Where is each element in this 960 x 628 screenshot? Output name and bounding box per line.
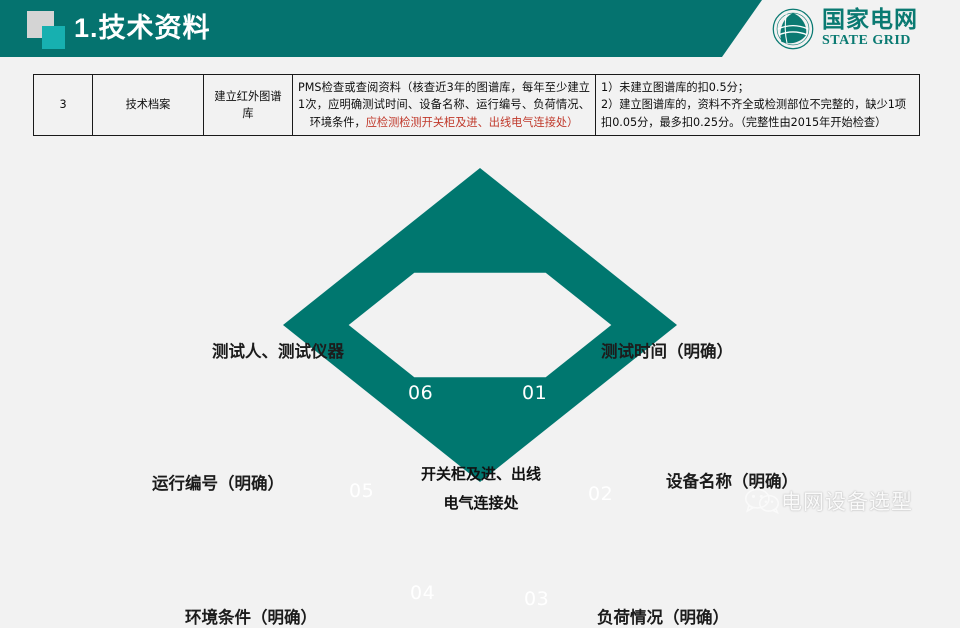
wechat-icon bbox=[745, 488, 779, 514]
star-number-05: 05 bbox=[349, 480, 374, 502]
star-center-text: 开关柜及进、出线 电气连接处 bbox=[395, 460, 567, 519]
cell-scoring: 1）未建立图谱库的扣0.5分； 2）建立图谱库的，资料不齐全或检测部位不完整的，… bbox=[596, 75, 920, 136]
hexagram-diagram: 01 02 03 04 05 06 开关柜及进、出线 电气连接处 测试人、测试仪… bbox=[0, 160, 960, 490]
star-label-05: 运行编号（明确） bbox=[152, 470, 284, 494]
page-title: 1.技术资料 bbox=[74, 8, 211, 48]
star-label-03: 负荷情况（明确） bbox=[597, 604, 729, 628]
logo-english-name: STATE GRID bbox=[822, 34, 918, 48]
description-red-text: 应检测检测开关柜及进、出线电气连接处） bbox=[366, 116, 579, 129]
state-grid-logo-text: 国家电网 STATE GRID bbox=[822, 9, 918, 48]
star-label-01: 测试时间（明确） bbox=[601, 338, 733, 362]
state-grid-logo: 国家电网 STATE GRID bbox=[762, 0, 960, 57]
hexagram-star-shape bbox=[283, 168, 677, 482]
watermark-text: 电网设备选型 bbox=[781, 486, 913, 516]
wechat-watermark: 电网设备选型 bbox=[745, 486, 913, 516]
star-number-04: 04 bbox=[410, 582, 435, 604]
star-label-06: 测试人、测试仪器 bbox=[212, 338, 344, 362]
center-text-line-1: 开关柜及进、出线 bbox=[395, 460, 567, 489]
star-number-06: 06 bbox=[408, 382, 433, 404]
cell-category: 技术档案 bbox=[93, 75, 204, 136]
star-number-02: 02 bbox=[588, 483, 613, 505]
state-grid-globe-icon bbox=[772, 8, 814, 50]
star-label-04: 环境条件（明确） bbox=[185, 604, 317, 628]
header-decoration-square-teal bbox=[42, 26, 65, 49]
star-number-01: 01 bbox=[522, 382, 547, 404]
table-row: 3 技术档案 建立红外图谱库 PMS检查或查阅资料（核查近3年的图谱库，每年至少… bbox=[34, 75, 920, 136]
cell-item: 建立红外图谱库 bbox=[204, 75, 293, 136]
header-corner-cut bbox=[722, 0, 762, 57]
cell-number: 3 bbox=[34, 75, 93, 136]
cell-description: PMS检查或查阅资料（核查近3年的图谱库，每年至少建立1次，应明确测试时间、设备… bbox=[293, 75, 596, 136]
star-number-03: 03 bbox=[524, 588, 549, 610]
scoring-text: 1）未建立图谱库的扣0.5分； 2）建立图谱库的，资料不齐全或检测部位不完整的，… bbox=[601, 81, 906, 129]
criteria-table: 3 技术档案 建立红外图谱库 PMS检查或查阅资料（核查近3年的图谱库，每年至少… bbox=[33, 74, 920, 136]
logo-chinese-name: 国家电网 bbox=[822, 9, 918, 32]
center-text-line-2: 电气连接处 bbox=[395, 489, 567, 518]
